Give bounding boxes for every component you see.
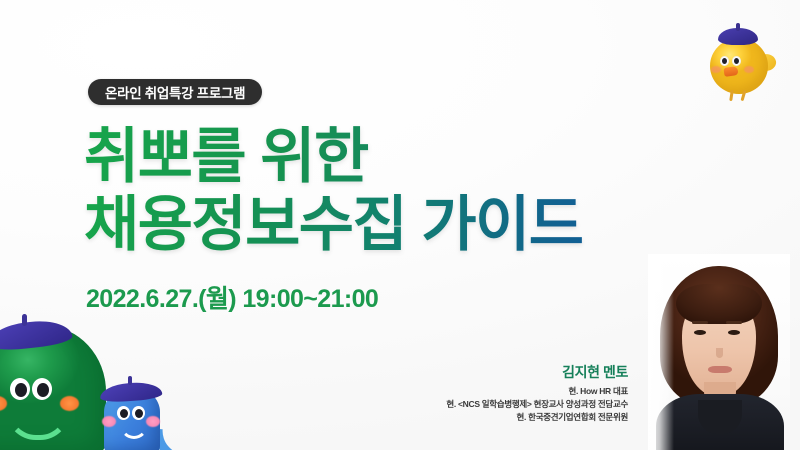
blue-mascot-blush-right: [146, 416, 160, 427]
mentor-credential-2: 현. <NCS 일학습병행제> 현장교사 양성과정 전담교수: [298, 398, 628, 411]
portrait-eyebrow-left: [692, 321, 708, 324]
green-mascot-pupil-left: [15, 383, 27, 397]
mentor-portrait-photo: [648, 254, 790, 450]
portrait-nose: [716, 348, 723, 358]
mentor-name: 김지현 멘토: [298, 362, 628, 382]
chick-pupil-right: [734, 58, 739, 64]
mentor-credential-1: 현. How HR 대표: [298, 385, 628, 398]
portrait-eye-left: [694, 330, 706, 335]
green-mascot-pupil-right: [37, 383, 49, 397]
portrait-left-fade: [648, 254, 674, 450]
portrait-lips: [708, 366, 732, 373]
chick-leg-left: [729, 90, 734, 101]
blue-mascot-character: [98, 374, 204, 450]
chick-blush-right: [744, 66, 754, 73]
chick-character: [700, 22, 782, 106]
blue-mascot-beret-knob: [128, 376, 132, 385]
blue-mascot-pupil-right: [135, 409, 143, 418]
mentor-info: 김지현 멘토 현. How HR 대표 현. <NCS 일학습병행제> 현장교사…: [298, 362, 628, 425]
blue-mascot-blush-left: [102, 416, 116, 427]
green-mascot-beret-knob: [22, 314, 27, 326]
program-badge: 온라인 취업특강 프로그램: [88, 79, 262, 105]
schedule-text: 2022.6.27.(월) 19:00~21:00: [86, 279, 378, 315]
chick-pupil-left: [722, 58, 727, 64]
promo-poster: 온라인 취업특강 프로그램 취뽀를 위한 채용정보수집 가이드 2022.6.2…: [0, 0, 800, 450]
portrait-eyebrow-right: [726, 321, 742, 324]
green-mascot-character: [0, 306, 110, 450]
portrait-bangs: [676, 284, 762, 324]
mentor-credential-3: 현. 한국중견기업연합회 전문위원: [298, 411, 628, 424]
headline-line-1: 취뽀를 위한: [84, 123, 684, 191]
page-title: 취뽀를 위한 채용정보수집 가이드: [84, 123, 684, 260]
blue-mascot-pupil-left: [120, 409, 128, 418]
chick-blush-left: [711, 66, 721, 73]
headline-line-2: 채용정보수집 가이드: [84, 191, 684, 259]
chick-beret-knob: [736, 23, 740, 31]
portrait-eye-right: [728, 330, 740, 335]
